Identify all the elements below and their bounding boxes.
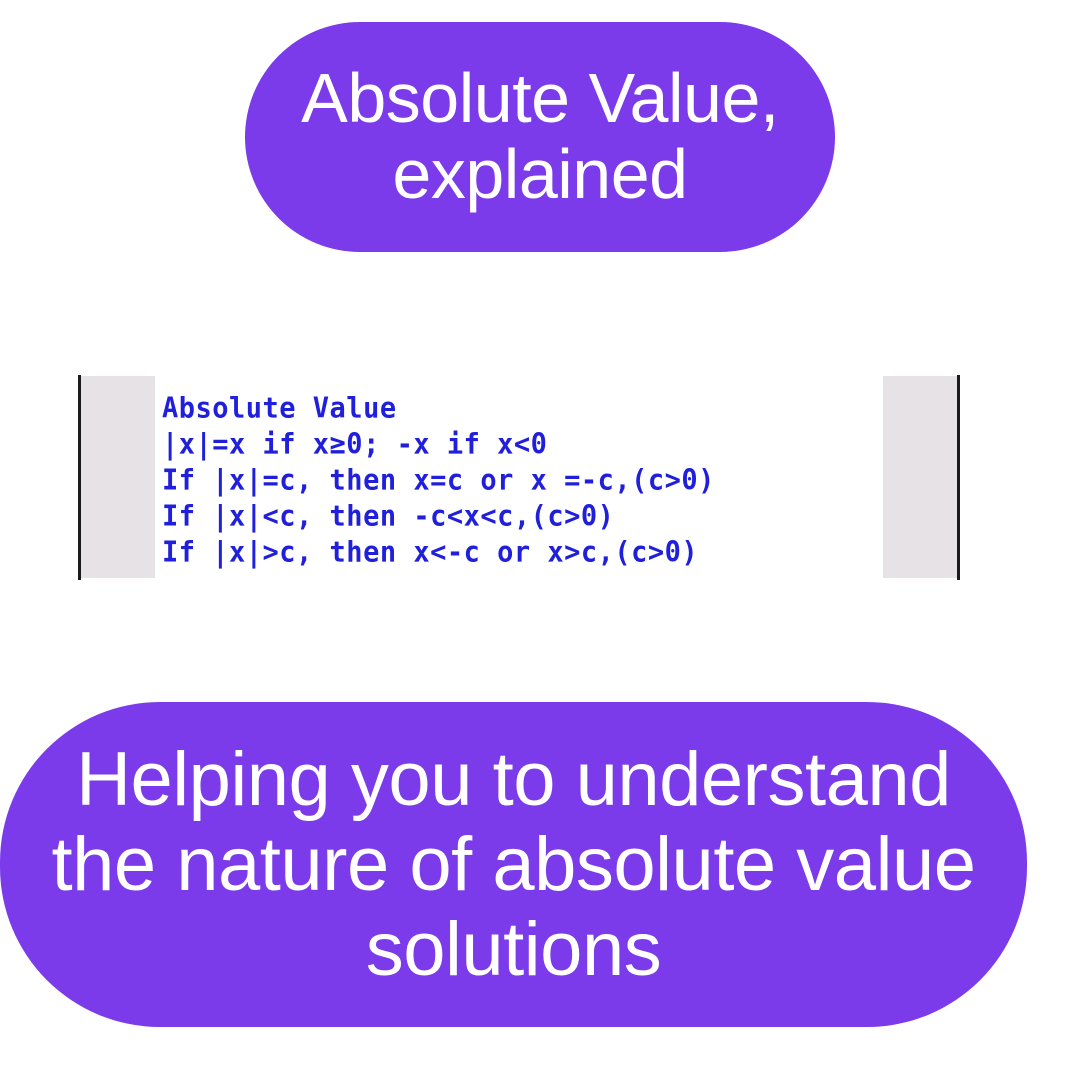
math-panel-screen: Absolute Value |x|=x if x≥0; -x if x<0 I…: [155, 376, 883, 588]
math-line-less-than-case: If |x|<c, then -c<x<c,(c>0): [155, 498, 883, 536]
panel-right-border: [957, 375, 960, 580]
panel-left-gutter: [81, 376, 155, 578]
subtitle-card: Helping you to understand the nature of …: [0, 702, 1027, 1027]
math-line-definition: |x|=x if x≥0; -x if x<0: [155, 426, 883, 464]
panel-right-gutter: [883, 376, 957, 578]
subtitle-card-text: Helping you to understand the nature of …: [51, 737, 975, 992]
math-line-greater-than-case: If |x|>c, then x<-c or x>c,(c>0): [155, 534, 883, 572]
title-card: Absolute Value, explained: [245, 22, 835, 252]
title-card-text: Absolute Value, explained: [301, 61, 779, 212]
math-reference-panel: Absolute Value |x|=x if x≥0; -x if x<0 I…: [78, 375, 960, 588]
math-line-equality-case: If |x|=c, then x=c or x =-c,(c>0): [155, 462, 883, 500]
math-line-heading: Absolute Value: [155, 390, 883, 428]
